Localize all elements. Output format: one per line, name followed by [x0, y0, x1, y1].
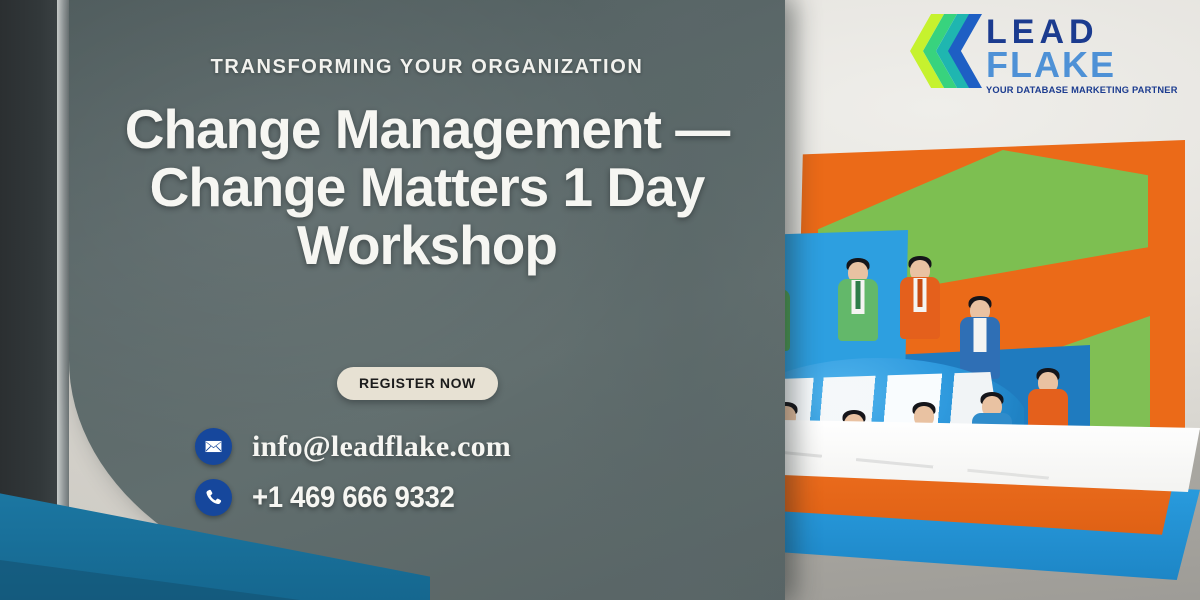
- event-banner: TRANSFORMING YOUR ORGANIZATION Change Ma…: [0, 0, 1200, 600]
- tie: [856, 281, 861, 309]
- content-area: TRANSFORMING YOUR ORGANIZATION Change Ma…: [69, 0, 785, 600]
- phone-number: +1 469 666 9332: [252, 481, 454, 515]
- shirt: [974, 318, 987, 352]
- phone-icon: [195, 479, 232, 516]
- brand-logo[interactable]: LEAD FLAKE YOUR DATABASE MARKETING PARTN…: [910, 14, 1138, 106]
- eyebrow-text: TRANSFORMING YOUR ORGANIZATION: [69, 56, 785, 79]
- logo-wordmark: LEAD FLAKE YOUR DATABASE MARKETING PARTN…: [986, 14, 1178, 95]
- contact-block: info@leadflake.com +1 469 666 9332: [195, 428, 511, 530]
- email-address: info@leadflake.com: [252, 430, 511, 464]
- contact-row-phone[interactable]: +1 469 666 9332: [195, 479, 511, 516]
- page-title: Change Management — Change Matters 1 Day…: [69, 100, 785, 274]
- chevron-4: [948, 14, 982, 88]
- chevron-stack-icon: [910, 14, 982, 88]
- contact-row-email[interactable]: info@leadflake.com: [195, 428, 511, 465]
- register-now-button[interactable]: REGISTER NOW: [337, 367, 498, 400]
- logo-tagline: YOUR DATABASE MARKETING PARTNER: [986, 85, 1178, 95]
- envelope-icon: [195, 428, 232, 465]
- logo-word-flake: FLAKE: [986, 48, 1178, 82]
- tie: [918, 279, 923, 307]
